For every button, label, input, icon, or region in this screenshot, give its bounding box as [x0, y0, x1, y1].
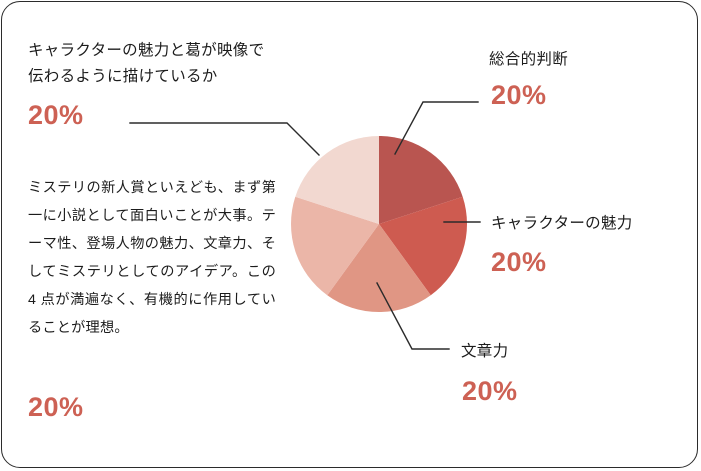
leader-line-top-left: [130, 123, 319, 155]
callout-bottom-percent: 20%: [462, 376, 518, 406]
callout-top-left-title: キャラクターの魅力と葛が映像で 伝わるように描けているか: [28, 38, 264, 90]
callout-top-right-title: 総合的判断: [489, 47, 568, 73]
callout-bottom-title: 文章力: [461, 339, 508, 365]
callout-right-middle-percent: 20%: [491, 247, 547, 277]
callout-top-left-line2: 伝わるように描けているか: [28, 64, 264, 90]
callout-right-middle-title: キャラクターの魅力: [491, 211, 633, 237]
chart-card: キャラクターの魅力と葛が映像で 伝わるように描けているか 20% ミステリの新人…: [1, 1, 698, 468]
callout-left-paragraph-body: ミステリの新人賞といえども、まず第一に小説として面白いことが大事。テーマ性、登場…: [28, 174, 276, 342]
callout-top-left-line1: キャラクターの魅力と葛が映像で: [28, 38, 264, 64]
callout-top-right-percent: 20%: [491, 80, 547, 110]
callout-top-left-percent: 20%: [28, 100, 84, 130]
callout-left-paragraph-percent: 20%: [28, 392, 84, 422]
